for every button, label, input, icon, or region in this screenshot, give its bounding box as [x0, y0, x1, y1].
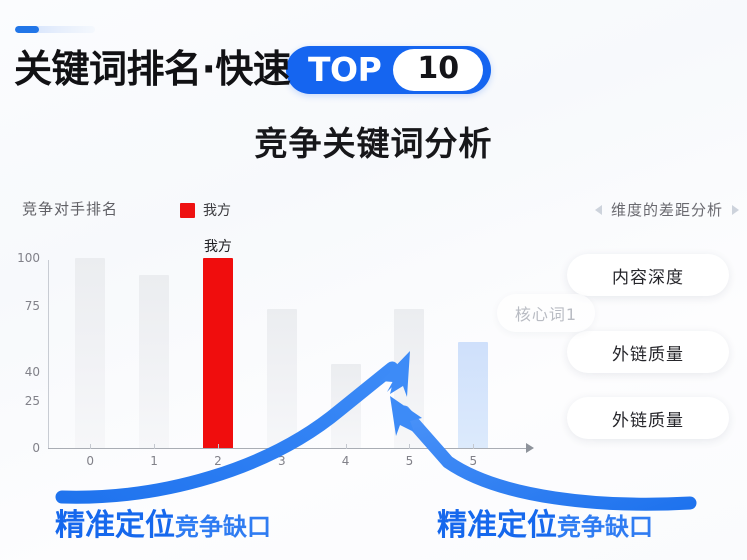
- dimension-card-0[interactable]: 内容深度: [567, 254, 729, 296]
- x-axis-tick-label: 3: [278, 454, 286, 468]
- y-axis-labels: 0254075100: [2, 248, 40, 448]
- chart-caption: 竞争对手排名: [22, 198, 118, 219]
- x-axis-tick-mark: [409, 444, 410, 449]
- triangle-right-icon: [732, 205, 739, 215]
- dimension-card-label: 外链质量: [612, 406, 684, 431]
- caption-right: 精准定位 竞争缺口: [437, 500, 653, 544]
- top-rank-badge: TOP 10: [286, 46, 491, 94]
- y-axis-tick: 100: [6, 251, 40, 265]
- right-panel-header: 维度的差距分析: [595, 199, 739, 220]
- chart-bar-6[interactable]: [458, 342, 488, 448]
- y-axis-tick: 25: [6, 394, 40, 408]
- x-axis-tick-mark: [90, 444, 91, 449]
- dimension-card-2[interactable]: 外链质量: [567, 397, 729, 439]
- y-axis-tick: 0: [6, 441, 40, 455]
- dimension-card-label: 外链质量: [612, 340, 684, 365]
- x-axis-tick-label: 5: [469, 454, 477, 468]
- x-axis-tick-mark: [346, 444, 347, 449]
- x-axis-line: [48, 448, 526, 449]
- chart-plot-area: [48, 258, 530, 448]
- dimension-card-label: 内容深度: [612, 263, 684, 288]
- chart-bar-0[interactable]: [75, 258, 105, 448]
- header-block: 关键词排名·快速 TOP 10: [14, 26, 734, 97]
- caption-right-light: 竞争缺口: [557, 507, 653, 542]
- x-axis-tick-label: 5: [406, 454, 414, 468]
- chart-bar-4[interactable]: [331, 364, 361, 448]
- x-axis-arrow-icon: [526, 443, 534, 453]
- chart-bar-1[interactable]: [139, 275, 169, 448]
- keyword-pill-label: 核心词1: [515, 301, 577, 325]
- top-badge-count-wrap: 10: [393, 49, 483, 91]
- x-axis-tick-mark: [473, 444, 474, 449]
- x-axis-tick-label: 1: [150, 454, 158, 468]
- caption-left-strong: 精准定位: [55, 500, 175, 544]
- triangle-left-icon: [595, 205, 602, 215]
- page-subtitle: 竞争关键词分析: [0, 117, 747, 165]
- legend-label: 我方: [203, 200, 231, 220]
- caption-left-light: 竞争缺口: [175, 507, 271, 542]
- legend-swatch-icon: [180, 203, 195, 218]
- top-badge-label: TOP: [308, 53, 381, 88]
- title-row: 关键词排名·快速 TOP 10: [14, 41, 734, 97]
- top-badge-count: 10: [417, 54, 459, 86]
- chart-bar-5[interactable]: [394, 309, 424, 448]
- chart-bar-2[interactable]: [203, 258, 233, 448]
- right-panel-title: 维度的差距分析: [611, 199, 723, 220]
- highlight-bar-label: 我方: [204, 236, 232, 256]
- y-axis-tick: 75: [6, 299, 40, 313]
- keyword-pill[interactable]: 核心词1: [497, 294, 595, 332]
- x-axis-tick-mark: [282, 444, 283, 449]
- dimension-card-1[interactable]: 外链质量: [567, 331, 729, 373]
- progress-bar-fill: [15, 26, 39, 33]
- caption-right-strong: 精准定位: [437, 500, 557, 544]
- x-axis-tick-mark: [218, 444, 219, 449]
- x-axis-tick-mark: [154, 444, 155, 449]
- x-axis-tick-label: 0: [86, 454, 94, 468]
- chart-legend: 我方: [180, 200, 231, 220]
- y-axis-tick: 40: [6, 365, 40, 379]
- chart-bar-3[interactable]: [267, 309, 297, 448]
- x-axis-tick-label: 2: [214, 454, 222, 468]
- progress-bar: [15, 26, 95, 33]
- caption-left: 精准定位 竞争缺口: [55, 500, 271, 544]
- page-title: 关键词排名·快速: [14, 50, 290, 88]
- bar-chart: 0254075100 012我方3455: [0, 248, 560, 473]
- x-axis-tick-label: 4: [342, 454, 350, 468]
